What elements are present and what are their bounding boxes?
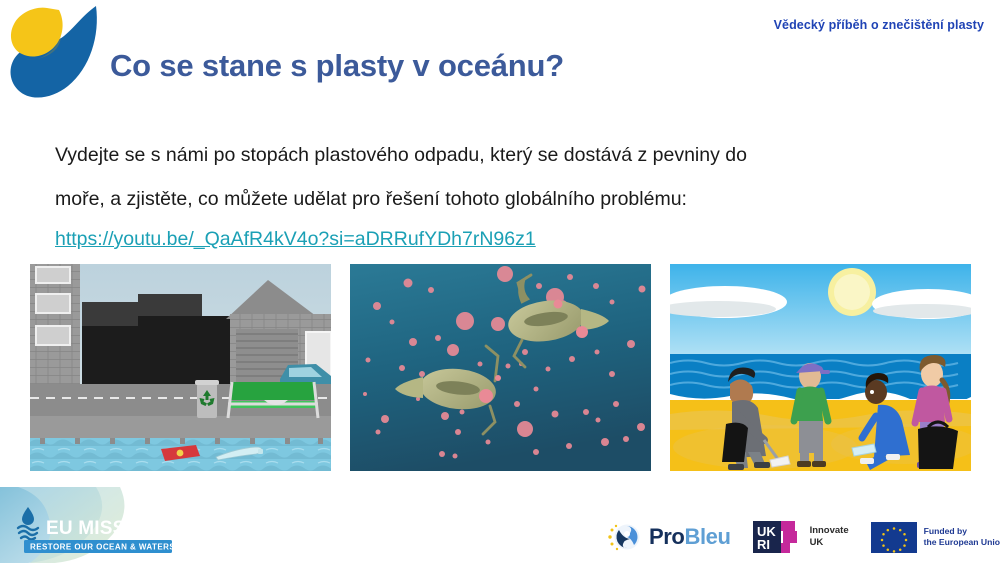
- eu-missions-logo: EU MISSIONS RESTORE OUR OCEAN & WATERS: [0, 487, 190, 563]
- probleu-swirl-stars-icon: [608, 520, 642, 554]
- innovate-uk-label-line1: Innovate: [810, 525, 849, 537]
- probleu-word-dark: Pro: [649, 524, 684, 549]
- eu-mission-droplet-logo-icon: [4, 2, 108, 104]
- eu-missions-title: EU MISSIONS: [46, 518, 173, 539]
- funded-by-eu-line1: Funded by: [924, 526, 1000, 537]
- body-line-2: moře, a zjistěte, co můžete udělat pro ř…: [55, 177, 935, 221]
- illustration-row: [30, 264, 972, 471]
- funded-by-eu-logo: Funded by the European Union: [871, 516, 1000, 558]
- body-line-1: Vydejte se s námi po stopách plastového …: [55, 133, 935, 177]
- probleu-logo: ProBleu: [608, 516, 731, 558]
- svg-text:RI: RI: [757, 537, 770, 552]
- innovate-uk-label: Innovate UK: [810, 525, 849, 550]
- innovate-uk-logo: UK RI Innovate UK: [753, 516, 849, 558]
- probleu-wordmark: ProBleu: [649, 524, 731, 550]
- eu-flag-stars-icon: [871, 522, 917, 553]
- funded-by-eu-line2: the European Union: [924, 537, 1000, 548]
- funder-logos: ProBleu UK RI Innovate UK: [608, 516, 1000, 558]
- street-litter-illustration[interactable]: [30, 264, 331, 471]
- beach-cleanup-illustration[interactable]: [670, 264, 971, 471]
- video-link[interactable]: https://youtu.be/_QaAfR4kV4o?si=aDRRufYD…: [55, 221, 536, 257]
- plankton-microplastics-illustration[interactable]: [350, 264, 651, 471]
- slide-header-label: Vědecký příběh o znečištění plasty: [774, 18, 984, 32]
- page-title: Co se stane s plasty v oceánu?: [110, 48, 564, 84]
- funded-by-eu-label: Funded by the European Union: [924, 526, 1000, 547]
- ukri-blocks-icon: UK RI: [753, 519, 803, 555]
- eu-missions-tagline: RESTORE OUR OCEAN & WATERS: [30, 543, 175, 552]
- body-copy: Vydejte se s námi po stopách plastového …: [55, 133, 935, 257]
- innovate-uk-label-line2: UK: [810, 537, 849, 549]
- probleu-word-light: Bleu: [684, 524, 730, 549]
